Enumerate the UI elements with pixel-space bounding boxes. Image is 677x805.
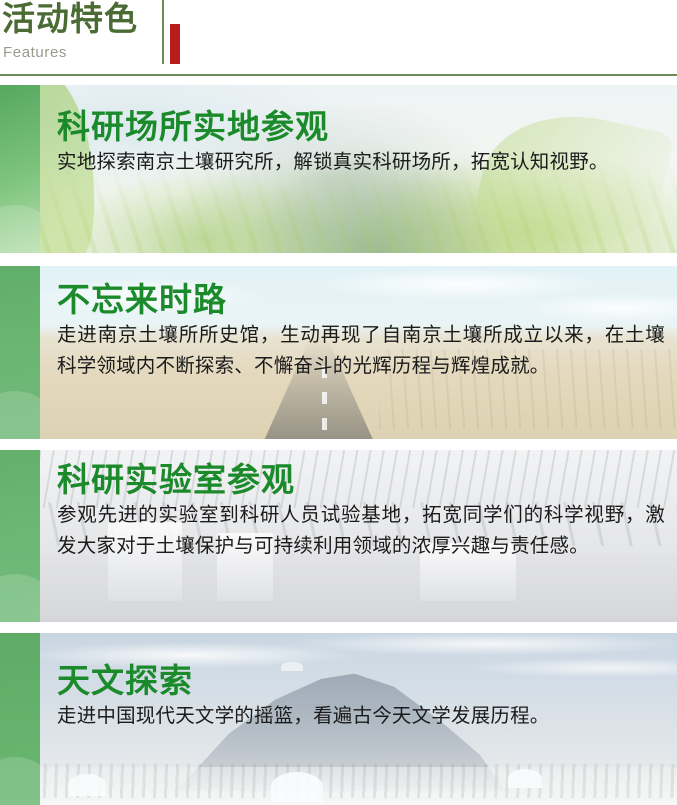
feature-title-2: 不忘来时路: [57, 280, 665, 320]
feature-content-2: 不忘来时路 走进南京土壤所所史馆，生动再现了自南京土壤所成立以来，在土壤科学领域…: [57, 280, 665, 382]
observatory-dome-icon: [508, 769, 542, 788]
circle-decoration: [0, 757, 40, 805]
header-accent-block: [170, 24, 180, 64]
feature-card-1[interactable]: 科研场所实地参观 实地探索南京土壤研究所，解锁真实科研场所，拓宽认知视野。: [0, 85, 677, 253]
page-title: 活动特色: [2, 0, 138, 38]
circle-decoration: [0, 391, 40, 439]
observatory-dome-icon: [271, 772, 323, 802]
observatory-dome-icon: [68, 774, 106, 796]
circle-decoration: [0, 574, 40, 622]
feature-content-3: 科研实验室参观 参观先进的实验室到科研人员试验基地，拓宽同学们的科学视野，激发大…: [57, 460, 665, 562]
feature-title-3: 科研实验室参观: [57, 460, 665, 500]
feature-description-3: 参观先进的实验室到科研人员试验基地，拓宽同学们的科学视野，激发大家对于土壤保护与…: [57, 500, 665, 562]
floor-shape: [0, 553, 677, 622]
features-page: 活动特色 Features 科研场所实地参观 实地探索南京土壤研究所，解锁真实科…: [0, 0, 677, 805]
feature-accent-bar-1: [0, 85, 40, 253]
feature-accent-bar-3: [0, 450, 40, 622]
circle-decoration: [0, 205, 40, 253]
feature-accent-bar-4: [0, 633, 40, 805]
feature-card-4[interactable]: 天文探索 走进中国现代天文学的摇篮，看遍古今天文学发展历程。: [0, 633, 677, 805]
feature-description-2: 走进南京土壤所所史馆，生动再现了自南京土壤所成立以来，在土壤科学领域内不断探索、…: [57, 320, 665, 382]
feature-content-4: 天文探索 走进中国现代天文学的摇篮，看遍古今天文学发展历程。: [57, 661, 665, 732]
page-header: 活动特色 Features: [0, 0, 677, 75]
feature-description-4: 走进中国现代天文学的摇篮，看遍古今天文学发展历程。: [57, 701, 665, 732]
page-subtitle: Features: [3, 44, 67, 62]
feature-card-2[interactable]: 不忘来时路 走进南京土壤所所史馆，生动再现了自南京土壤所成立以来，在土壤科学领域…: [0, 266, 677, 439]
header-horizontal-rule: [0, 74, 677, 76]
feature-card-3[interactable]: 科研实验室参观 参观先进的实验室到科研人员试验基地，拓宽同学们的科学视野，激发大…: [0, 450, 677, 622]
feature-content-1: 科研场所实地参观 实地探索南京土壤研究所，解锁真实科研场所，拓宽认知视野。: [57, 107, 665, 178]
header-vertical-divider: [162, 0, 164, 64]
feature-title-1: 科研场所实地参观: [57, 107, 665, 147]
feature-description-1: 实地探索南京土壤研究所，解锁真实科研场所，拓宽认知视野。: [57, 147, 665, 178]
feature-accent-bar-2: [0, 266, 40, 439]
feature-title-4: 天文探索: [57, 661, 665, 701]
